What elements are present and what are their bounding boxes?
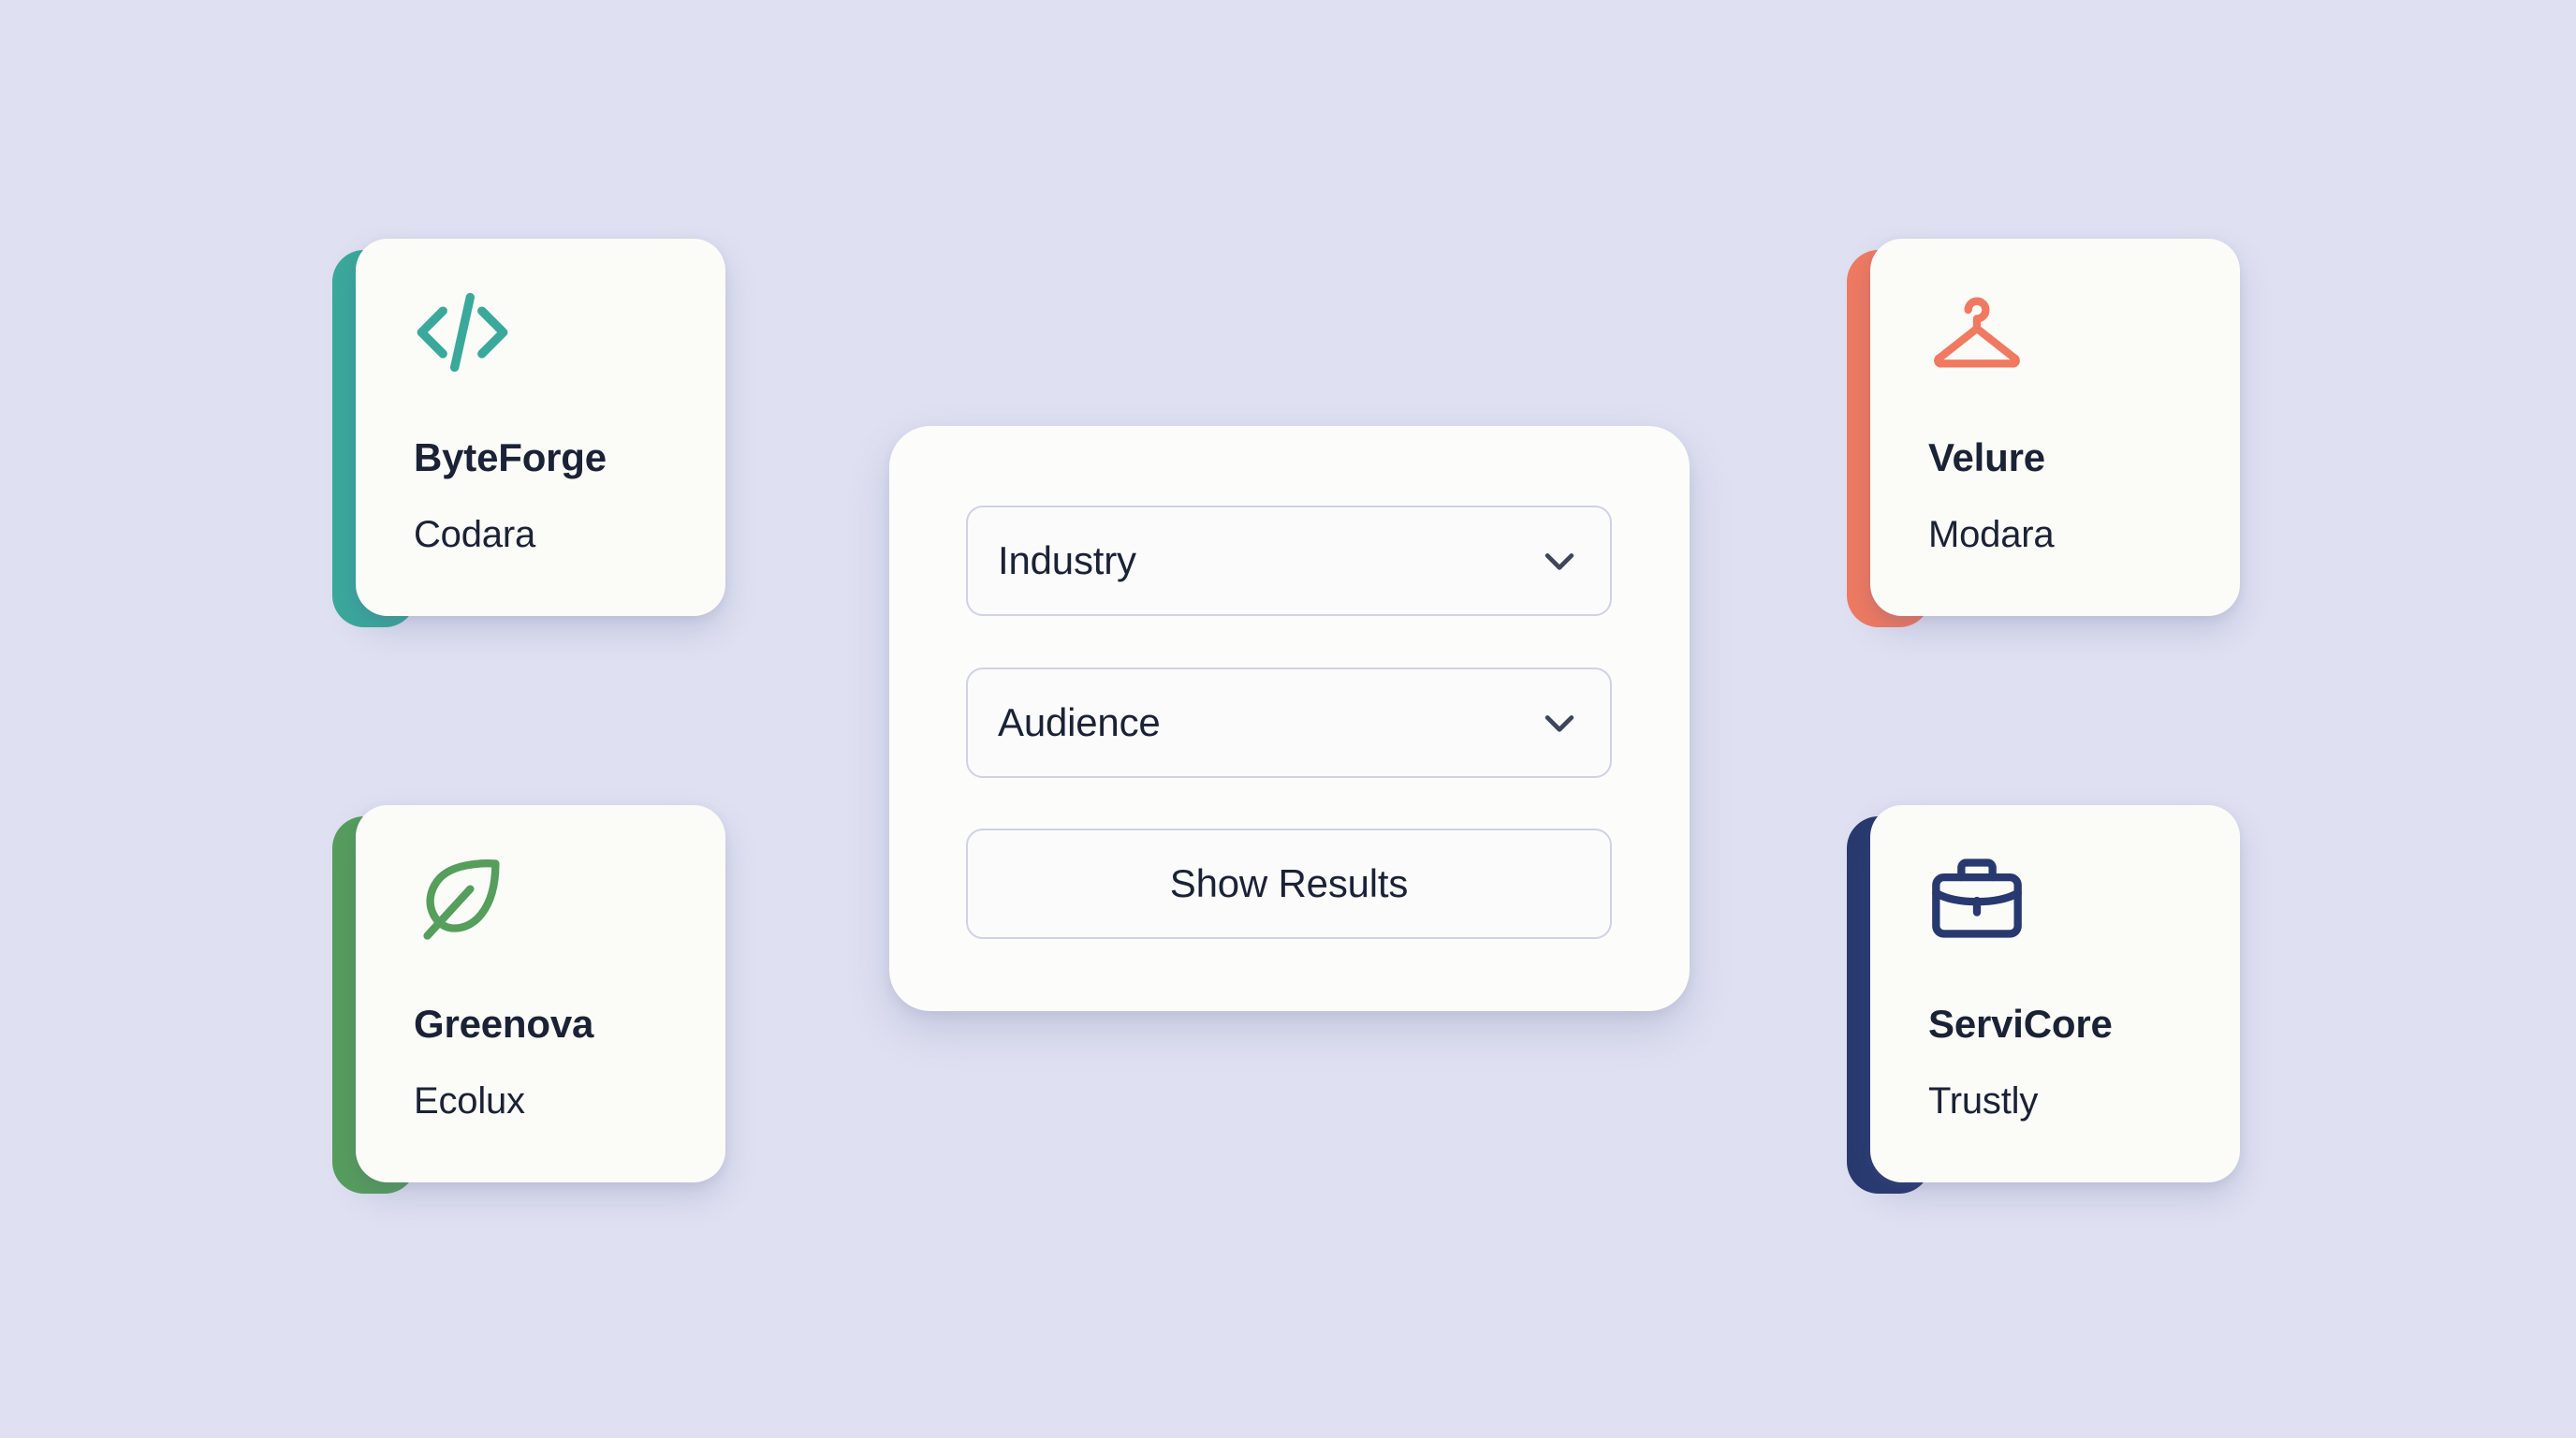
card-subtitle: Trustly [1928,1080,2038,1123]
filter-panel: Industry Audience Show Results [889,426,1690,1011]
card-title: Velure [1928,435,2045,480]
card-surface: Greenova Ecolux [356,805,725,1182]
brand-card-greenova[interactable]: Greenova Ecolux [332,805,725,1194]
card-surface: ServiCore Trustly [1870,805,2240,1182]
code-icon [414,284,511,381]
audience-select[interactable]: Audience [966,668,1612,778]
brand-card-servicore[interactable]: ServiCore Trustly [1847,805,2240,1194]
card-title: ByteForge [414,435,607,480]
hanger-icon [1928,284,2026,381]
brand-card-velure[interactable]: Velure Modara [1847,239,2240,627]
leaf-icon [414,850,511,947]
card-subtitle: Modara [1928,514,2054,556]
chevron-down-icon [1539,702,1580,743]
card-surface: Velure Modara [1870,239,2240,616]
card-surface: ByteForge Codara [356,239,725,616]
chevron-down-icon [1539,540,1580,581]
audience-select-label: Audience [998,700,1161,745]
industry-select-label: Industry [998,538,1136,583]
page-root: ByteForge Codara Velure Modara [0,0,2576,1438]
card-title: ServiCore [1928,1002,2113,1047]
show-results-button[interactable]: Show Results [966,829,1612,939]
show-results-button-label: Show Results [968,861,1610,906]
card-title: Greenova [414,1002,593,1047]
card-subtitle: Codara [414,514,535,556]
card-subtitle: Ecolux [414,1080,525,1123]
brand-card-byteforge[interactable]: ByteForge Codara [332,239,725,627]
industry-select[interactable]: Industry [966,506,1612,616]
briefcase-icon [1928,850,2026,947]
